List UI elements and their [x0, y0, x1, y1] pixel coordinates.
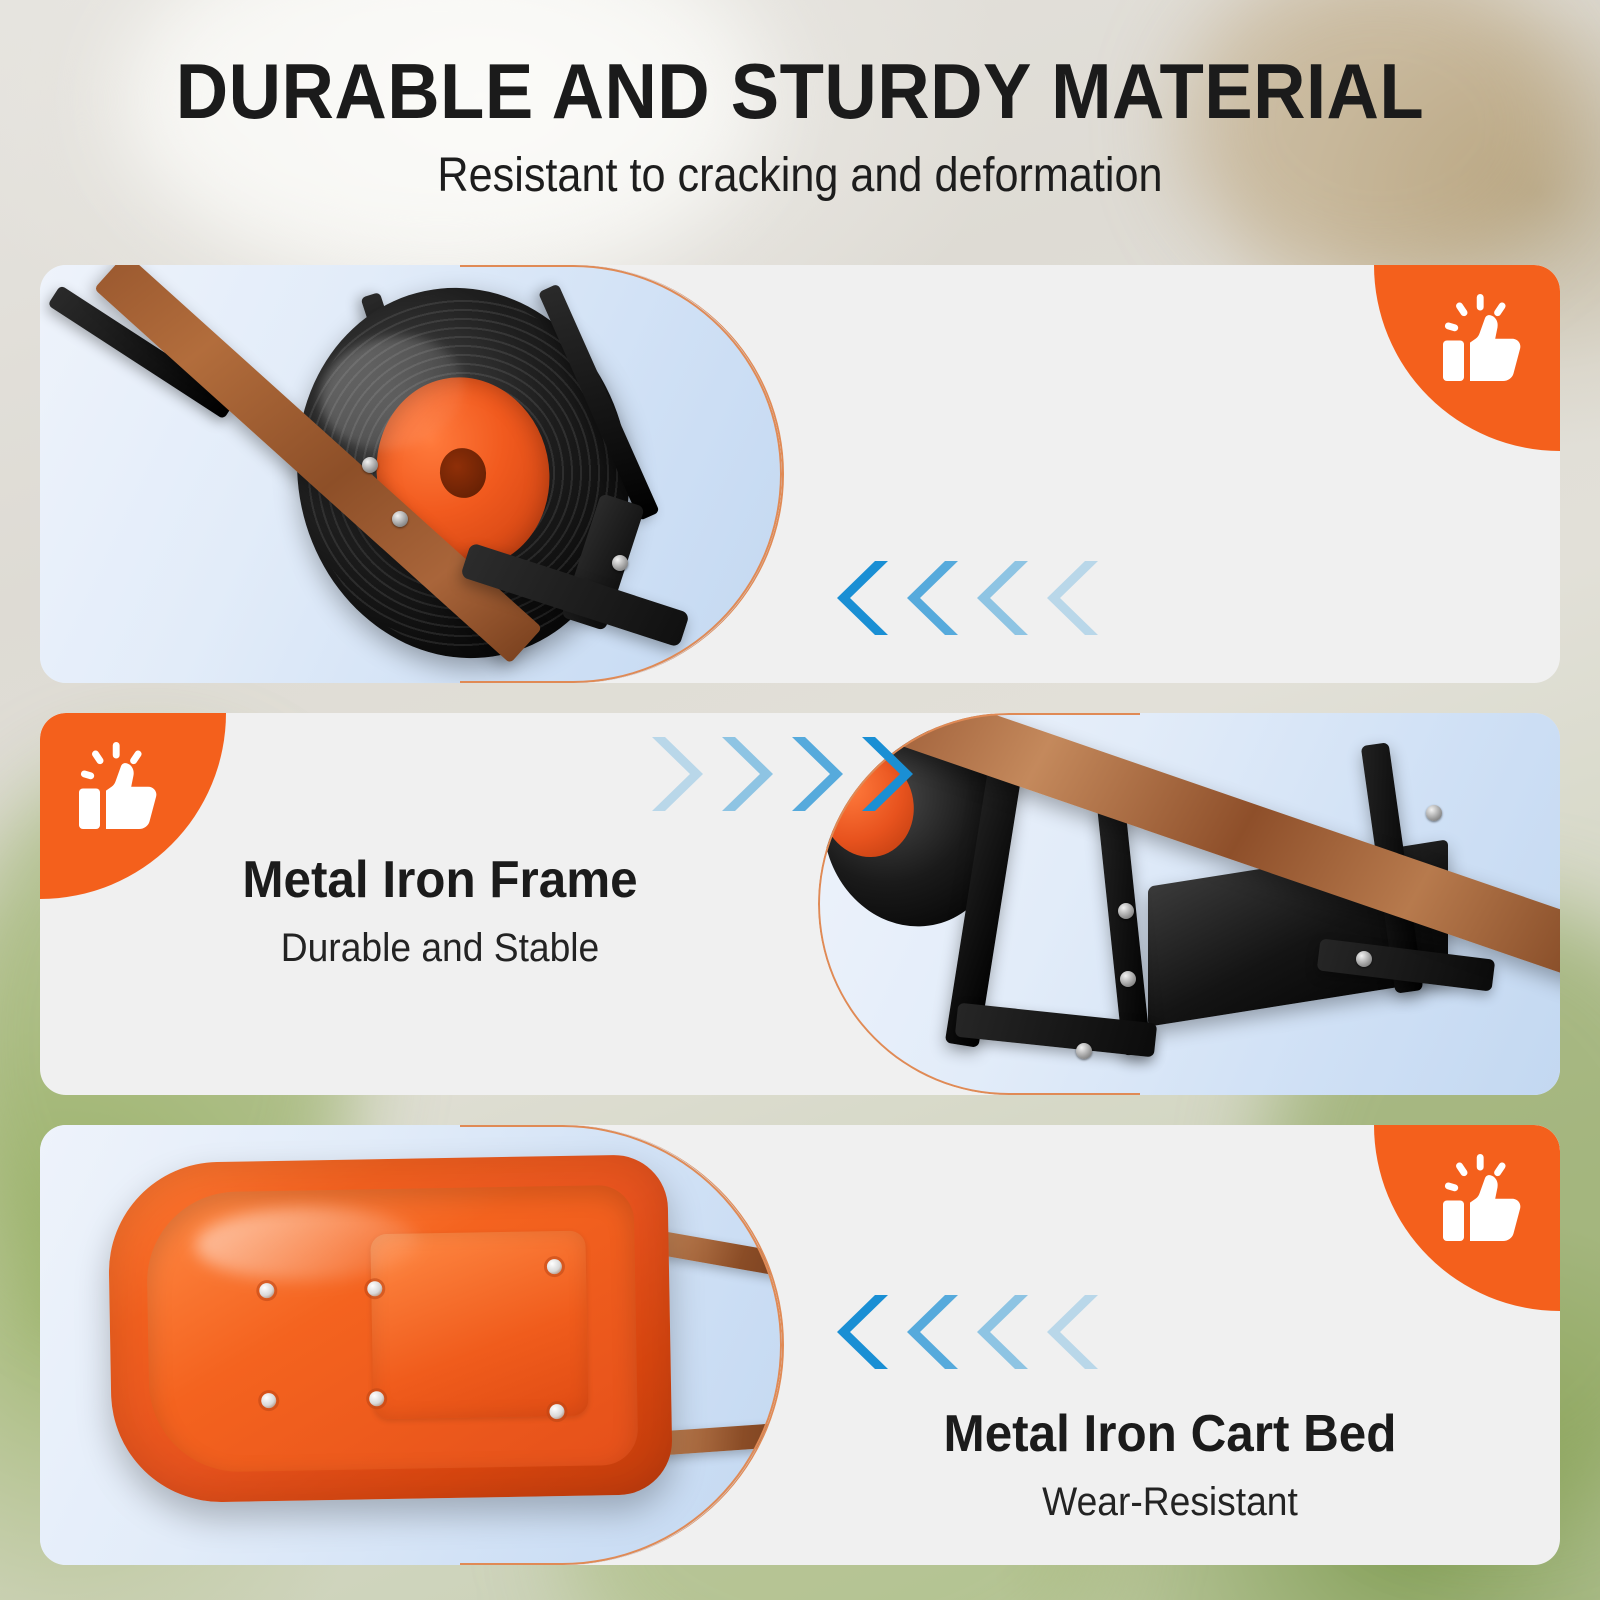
- feature-text-cart-bed: Metal Iron Cart Bed Wear-Resistant: [820, 1407, 1520, 1526]
- page-subtitle: Resistant to cracking and deformation: [80, 152, 1520, 200]
- chevron-right-icon: [652, 737, 712, 811]
- feature-photo-tires: [40, 265, 784, 683]
- bolt-icon: [392, 511, 408, 527]
- feature-body-line-1: Durable and Stable: [281, 926, 599, 970]
- cart-bed-icon: [107, 1154, 673, 1504]
- header: DURABLE AND STURDY MATERIAL Resistant to…: [0, 52, 1600, 200]
- bolt-icon: [1356, 951, 1372, 967]
- cart-bed-inner: [146, 1185, 639, 1473]
- chevron-left-icon: [968, 561, 1028, 635]
- bolt-icon: [1426, 805, 1442, 821]
- product-feature-infographic: DURABLE AND STURDY MATERIAL Resistant to…: [0, 0, 1600, 1600]
- rivet-icon: [547, 1259, 562, 1274]
- chevron-left-icon: [1038, 1295, 1098, 1369]
- feature-body-line-1: Wear-Resistant: [1042, 1480, 1298, 1524]
- feature-heading: Metal Iron Cart Bed: [838, 1407, 1503, 1462]
- bolt-icon: [1120, 971, 1136, 987]
- chevron-left-icon: [1038, 561, 1098, 635]
- rivet-icon: [550, 1404, 565, 1419]
- tire-illustration: [40, 265, 782, 683]
- feature-card-cart-bed: Metal Iron Cart Bed Wear-Resistant: [40, 1125, 1560, 1565]
- chevron-left-icon: [968, 1295, 1028, 1369]
- chevron-left-icon: [898, 561, 958, 635]
- rivet-icon: [259, 1283, 274, 1298]
- feature-body: Wear-Resistant: [845, 1478, 1496, 1527]
- rivet-icon: [261, 1393, 276, 1408]
- thumbs-up-icon: [70, 739, 166, 835]
- thumbs-up-badge: [1374, 1125, 1560, 1311]
- thumbs-up-badge: [1374, 265, 1560, 451]
- chevron-right-icon: [792, 737, 852, 811]
- cart-bed-illustration: [40, 1125, 782, 1565]
- page-title: DURABLE AND STURDY MATERIAL: [56, 52, 1544, 130]
- bolt-icon: [1076, 1043, 1092, 1059]
- feature-card-frame: Metal Iron Frame Durable and Stable: [40, 713, 1560, 1095]
- chevron-arrows-left: [828, 561, 1098, 635]
- chevron-arrows-right: [652, 737, 922, 811]
- feature-photo-frame: [818, 713, 1560, 1095]
- bolt-icon: [362, 457, 378, 473]
- thumbs-up-badge: [40, 713, 226, 899]
- bolt-icon: [1118, 903, 1134, 919]
- chevron-left-icon: [828, 1295, 888, 1369]
- feature-photo-cart-bed: [40, 1125, 784, 1565]
- thumbs-up-icon: [1434, 291, 1530, 387]
- chevron-right-icon: [722, 737, 782, 811]
- feature-card-tires: Patented Solid Foam Tires Resistant to D…: [40, 265, 1560, 683]
- frame-illustration: [818, 713, 1560, 1095]
- chevron-arrows-left: [828, 1295, 1098, 1369]
- chevron-left-icon: [898, 1295, 958, 1369]
- feature-body: Durable and Stable: [105, 924, 775, 973]
- chevron-right-icon: [862, 737, 922, 811]
- bolt-icon: [612, 555, 628, 571]
- thumbs-up-icon: [1434, 1151, 1530, 1247]
- chevron-left-icon: [828, 561, 888, 635]
- rivet-icon: [369, 1391, 384, 1406]
